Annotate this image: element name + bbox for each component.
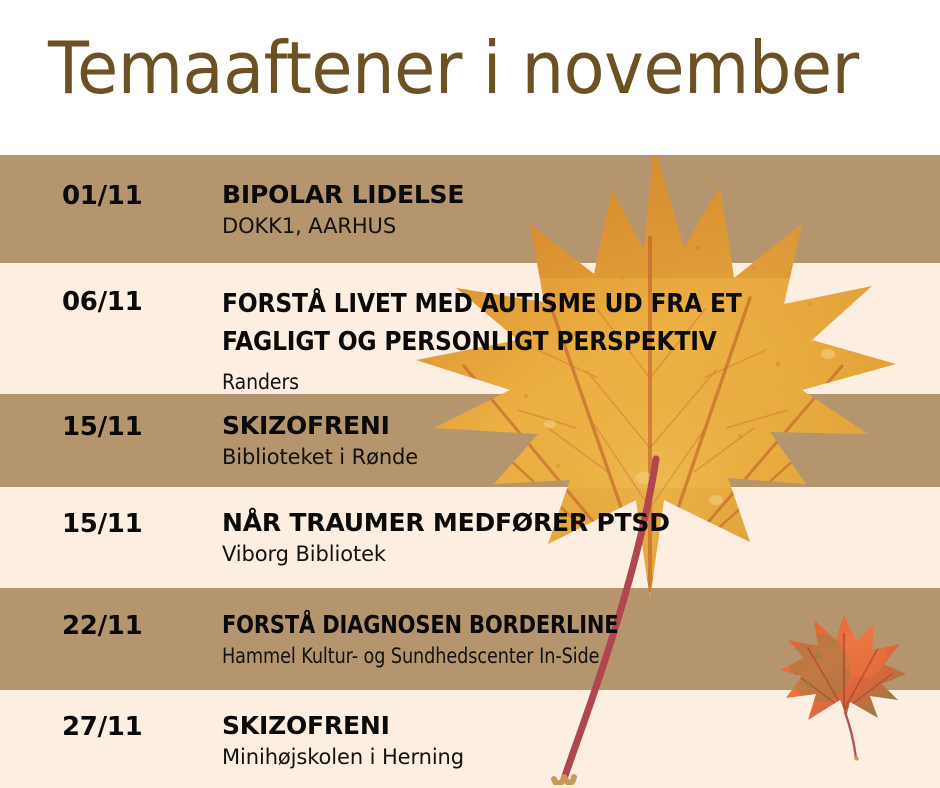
poster-header: Temaaftener i november	[0, 0, 940, 155]
page-title: Temaaftener i november	[48, 27, 859, 109]
maple-leaf-icon	[778, 612, 908, 762]
leaf-stem-icon	[520, 455, 700, 785]
poster-canvas: Temaaftener i november 01/11 BIPOLAR LID…	[0, 0, 940, 788]
